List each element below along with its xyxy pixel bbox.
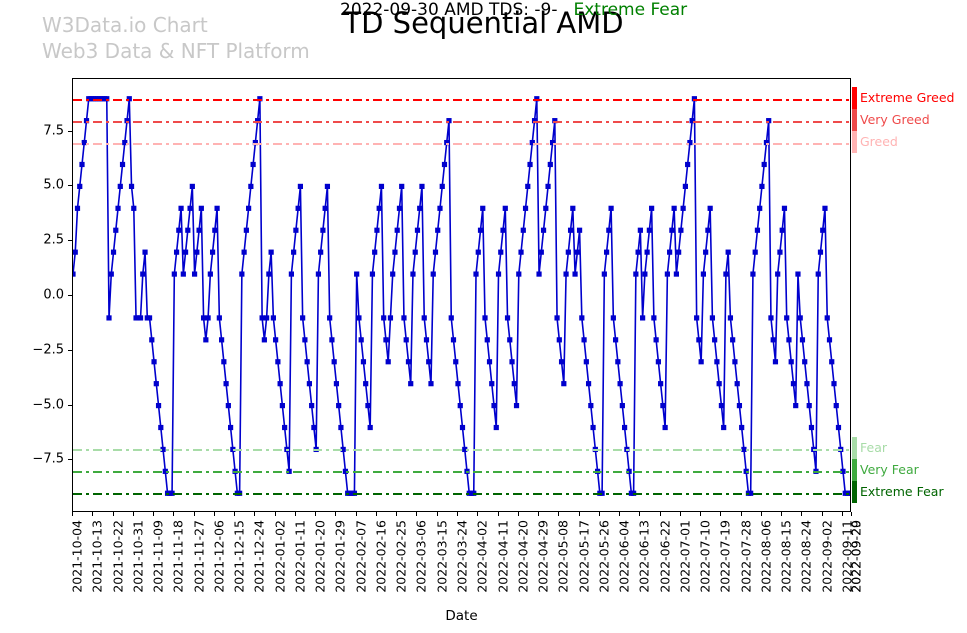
data-point [140,271,145,276]
data-point [701,271,706,276]
data-point [187,206,192,211]
data-point [311,425,316,430]
data-point [131,206,136,211]
data-point [615,359,620,364]
x-tick-mark [416,512,417,516]
threshold-label-fear: Fear [860,442,887,455]
data-point [699,359,704,364]
data-point [120,162,125,167]
current-value-annotation: 2022-09-30 AMD TDS: -9-Extreme Fear [340,0,687,20]
data-point [338,425,343,430]
data-point [248,184,253,189]
x-tick-label: 2022-03-06 [414,520,429,593]
data-point [606,228,611,233]
data-point [154,381,159,386]
data-point [395,228,400,233]
x-tick-mark [741,512,742,516]
data-point [194,250,199,255]
x-tick-label: 2022-02-25 [394,520,409,593]
data-point [708,206,713,211]
data-point [332,359,337,364]
x-tick-mark [133,512,134,516]
x-tick-mark [822,512,823,516]
x-tick-mark [619,512,620,516]
data-point [696,337,701,342]
x-tick-label: 2022-01-20 [313,520,328,593]
data-point [674,271,679,276]
x-tick-mark [599,512,600,516]
data-point [226,403,231,408]
data-point [816,271,821,276]
data-point [280,403,285,408]
data-point [656,359,661,364]
x-tick-mark [801,512,802,516]
data-point [377,206,382,211]
plot-clip [73,79,850,511]
x-tick-mark [842,512,843,516]
y-tick-label: −2.5 [32,342,64,357]
data-point [302,337,307,342]
threshold-label-extreme-fear: Extreme Fear [860,486,944,499]
threshold-edge-swatch [852,459,857,481]
data-point [422,315,427,320]
data-point [473,271,478,276]
x-tick-label: 2022-09-29 [849,520,864,593]
x-tick-label: 2021-10-22 [110,520,125,593]
data-point [404,337,409,342]
data-point [798,315,803,320]
x-tick-label: 2022-04-20 [515,520,530,593]
data-point [435,228,440,233]
data-point [561,381,566,386]
data-point [214,206,219,211]
x-tick-mark [295,512,296,516]
data-point [115,206,120,211]
data-point [111,250,116,255]
y-tick-label: −5.0 [32,397,64,412]
data-point [406,359,411,364]
data-point [217,315,222,320]
data-point [676,250,681,255]
data-point [476,250,481,255]
x-tick-mark [851,512,852,516]
data-point [428,381,433,386]
y-tick-label: −7.5 [32,452,64,467]
data-point [113,228,118,233]
series-polyline [73,99,850,494]
data-point [523,206,528,211]
data-point [361,359,366,364]
data-point [773,359,778,364]
data-point [658,381,663,386]
data-point [496,271,501,276]
data-point [323,206,328,211]
data-point [201,315,206,320]
data-point [300,315,305,320]
x-tick-mark [761,512,762,516]
data-point [514,403,519,408]
data-point [611,315,616,320]
data-point [374,228,379,233]
annotation-main-text: 2022-09-30 AMD TDS: -9- [340,0,557,20]
data-point [732,359,737,364]
threshold-label-greed: Greed [860,136,898,149]
data-point [325,184,330,189]
y-tick-mark [68,240,72,241]
data-point [636,250,641,255]
x-tick-mark [173,512,174,516]
data-point [507,337,512,342]
data-point [408,381,413,386]
data-point [802,359,807,364]
y-tick-mark [68,131,72,132]
data-point [359,337,364,342]
x-tick-mark [315,512,316,516]
data-point [172,271,177,276]
data-point [498,250,503,255]
x-tick-label: 2021-10-31 [130,520,145,593]
x-tick-mark [254,512,255,516]
data-point [183,250,188,255]
data-point [453,359,458,364]
data-point [307,381,312,386]
data-point [190,184,195,189]
data-point [208,271,213,276]
x-tick-label: 2022-06-22 [657,520,672,593]
data-point [388,315,393,320]
data-point [721,425,726,430]
y-tick-label: 0.0 [43,288,64,303]
data-point [433,250,438,255]
data-point [487,359,492,364]
data-point [694,315,699,320]
data-point [638,228,643,233]
data-point [203,337,208,342]
data-point [437,206,442,211]
x-tick-label: 2022-04-29 [536,520,551,593]
data-point [431,271,436,276]
data-point [370,271,375,276]
data-point [525,184,530,189]
data-point [685,162,690,167]
data-point [714,359,719,364]
x-tick-label: 2022-06-04 [617,520,632,593]
data-point [174,250,179,255]
x-tick-mark [194,512,195,516]
x-tick-mark [72,512,73,516]
data-point [79,162,84,167]
data-point [417,206,422,211]
data-point [138,315,143,320]
x-tick-label: 2022-08-15 [779,520,794,593]
data-point [541,228,546,233]
threshold-line-very-fear [73,471,850,473]
data-point [296,206,301,211]
data-point [262,337,267,342]
series-markers [73,96,850,496]
x-tick-mark [113,512,114,516]
x-tick-label: 2022-04-02 [475,520,490,593]
data-point [539,250,544,255]
data-point [199,206,204,211]
data-point [737,403,742,408]
x-tick-label: 2022-01-11 [292,520,307,593]
data-point [334,381,339,386]
data-point [568,228,573,233]
data-point [293,228,298,233]
data-point [383,337,388,342]
data-point [354,271,359,276]
x-tick-label: 2022-07-01 [677,520,692,593]
data-point [672,206,677,211]
y-tick-mark [68,185,72,186]
x-tick-mark [579,512,580,516]
threshold-edge-swatch [852,87,857,109]
data-point [557,337,562,342]
data-point [588,403,593,408]
data-point [491,403,496,408]
data-point [640,315,645,320]
threshold-edge-swatch [852,131,857,153]
x-tick-label: 2022-01-29 [333,520,348,593]
x-tick-mark [518,512,519,516]
data-point [780,228,785,233]
watermark-line-2: Web3 Data & NFT Platform [42,38,310,64]
data-point [820,228,825,233]
threshold-label-very-greed: Very Greed [860,114,930,127]
data-point [158,425,163,430]
data-point [804,381,809,386]
data-point [251,162,256,167]
data-point [703,250,708,255]
data-point [822,206,827,211]
data-point [647,228,652,233]
data-point [381,315,386,320]
data-point [807,403,812,408]
y-tick-mark [68,459,72,460]
data-point [710,315,715,320]
threshold-label-very-fear: Very Fear [860,464,919,477]
data-point [106,315,111,320]
data-point [298,184,303,189]
data-point [784,315,789,320]
data-point [318,250,323,255]
data-point [521,228,526,233]
data-point [489,381,494,386]
chart-figure: TD Sequential AMD W3Data.io Chart Web3 D… [0,0,967,633]
x-tick-mark [153,512,154,516]
data-point [147,315,152,320]
data-point [829,359,834,364]
data-point [305,359,310,364]
data-point [755,228,760,233]
data-point [669,228,674,233]
data-point [793,403,798,408]
data-point [512,381,517,386]
x-tick-mark [781,512,782,516]
plot-area [72,78,851,512]
data-point [705,228,710,233]
x-tick-mark [396,512,397,516]
data-point [485,337,490,342]
x-tick-label: 2022-09-02 [819,520,834,593]
data-point [118,184,123,189]
data-point [212,228,217,233]
data-point [536,271,541,276]
data-point [397,206,402,211]
data-point [777,250,782,255]
x-tick-mark [720,512,721,516]
x-tick-mark [477,512,478,516]
data-point [584,359,589,364]
data-point [620,403,625,408]
x-tick-label: 2021-11-18 [171,520,186,593]
x-tick-label: 2022-01-02 [272,520,287,593]
data-point [665,271,670,276]
data-point [505,315,510,320]
data-point [717,381,722,386]
x-tick-mark [498,512,499,516]
data-point [581,337,586,342]
data-point [460,425,465,430]
data-point [363,381,368,386]
data-point [228,425,233,430]
x-tick-label: 2021-10-13 [90,520,105,593]
x-tick-label: 2021-10-04 [70,520,85,593]
data-point [192,271,197,276]
x-tick-label: 2022-05-26 [596,520,611,593]
data-point [77,184,82,189]
x-tick-label: 2022-02-16 [373,520,388,593]
data-point [244,228,249,233]
data-point [604,250,609,255]
data-point [210,250,215,255]
data-point [543,206,548,211]
data-point [739,425,744,430]
x-tick-label: 2022-03-15 [434,520,449,593]
data-point [291,250,296,255]
data-point [663,425,668,430]
data-point [735,381,740,386]
data-point [633,271,638,276]
data-point [642,271,647,276]
data-point [577,228,582,233]
data-point [789,359,794,364]
data-point [750,271,755,276]
data-point [379,184,384,189]
x-tick-label: 2022-02-07 [353,520,368,593]
data-point [455,381,460,386]
y-tick-label: 5.0 [43,178,64,193]
data-point [786,337,791,342]
x-axis-label: Date [72,608,851,624]
data-point [818,250,823,255]
x-tick-mark [437,512,438,516]
data-point [791,381,796,386]
data-point [458,403,463,408]
x-tick-label: 2021-12-06 [211,520,226,593]
data-point [494,425,499,430]
x-tick-label: 2021-11-27 [191,520,206,593]
data-point [219,337,224,342]
data-point [264,315,269,320]
y-tick-label: 7.5 [43,123,64,138]
data-point [602,271,607,276]
data-point [75,206,80,211]
data-point [509,359,514,364]
x-tick-mark [639,512,640,516]
data-point [545,184,550,189]
data-point [618,381,623,386]
x-tick-mark [335,512,336,516]
data-point [129,184,134,189]
data-point [482,315,487,320]
data-point [681,206,686,211]
data-point [548,162,553,167]
data-point [572,271,577,276]
data-point [282,425,287,430]
threshold-line-greed [73,143,850,145]
data-point [442,162,447,167]
x-tick-label: 2022-07-10 [698,520,713,593]
data-point [151,359,156,364]
x-tick-mark [92,512,93,516]
annotation-status-text: Extreme Fear [573,0,687,20]
data-point [149,337,154,342]
data-point [424,337,429,342]
x-tick-label: 2022-07-28 [738,520,753,593]
data-point [410,271,415,276]
threshold-line-fear [73,449,850,451]
y-tick-mark [68,405,72,406]
x-tick-label: 2021-12-15 [232,520,247,593]
data-point [712,337,717,342]
data-point [178,206,183,211]
data-point [575,250,580,255]
data-point [271,315,276,320]
x-tick-label: 2022-05-08 [556,520,571,593]
x-tick-label: 2022-07-19 [718,520,733,593]
data-point [239,271,244,276]
data-point [246,206,251,211]
data-point [768,315,773,320]
data-point [559,359,564,364]
data-point [156,403,161,408]
data-point [392,250,397,255]
data-point [645,250,650,255]
data-point [527,162,532,167]
x-tick-mark [660,512,661,516]
x-tick-mark [376,512,377,516]
data-point [329,337,334,342]
x-tick-mark [356,512,357,516]
threshold-line-very-greed [73,121,850,123]
data-point [401,315,406,320]
data-point [516,271,521,276]
threshold-line-extreme-fear [73,493,850,495]
x-tick-label: 2022-08-06 [758,520,773,593]
data-point [413,250,418,255]
data-point [795,271,800,276]
data-point [782,206,787,211]
data-point [651,315,656,320]
data-point [563,271,568,276]
data-point [73,250,78,255]
data-point [570,206,575,211]
x-tick-label: 2022-08-24 [799,520,814,593]
data-point [809,425,814,430]
data-point [836,425,841,430]
